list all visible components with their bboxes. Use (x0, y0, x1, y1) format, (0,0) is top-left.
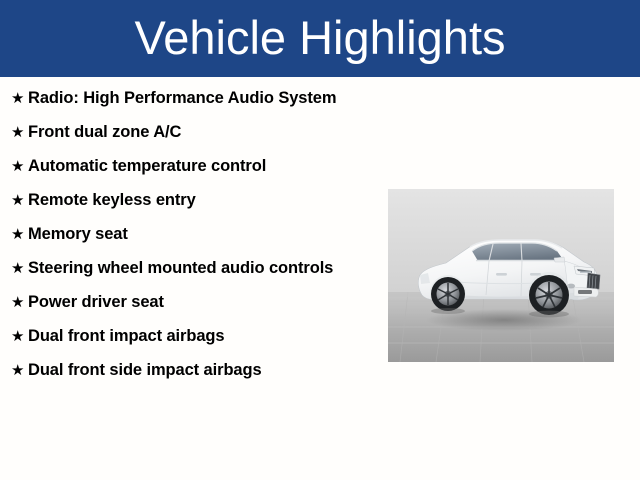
vehicle-photo (388, 189, 614, 362)
list-item-label: Memory seat (28, 224, 338, 245)
vehicle-features-list: ★ Radio: High Performance Audio System ★… (8, 88, 338, 394)
list-item-label: Dual front impact airbags (28, 326, 338, 347)
list-item: ★ Memory seat (8, 224, 338, 245)
slide-root: Vehicle Highlights ★ Radio: High Perform… (0, 0, 640, 480)
list-item-label: Radio: High Performance Audio System (28, 88, 338, 109)
header-bar: Vehicle Highlights (0, 0, 640, 77)
star-icon: ★ (8, 190, 28, 211)
star-icon: ★ (8, 156, 28, 177)
list-item: ★ Front dual zone A/C (8, 122, 338, 143)
list-item: ★ Remote keyless entry (8, 190, 338, 211)
star-icon: ★ (8, 292, 28, 313)
list-item-label: Steering wheel mounted audio controls (28, 258, 338, 279)
list-item-label: Dual front side impact airbags (28, 360, 338, 381)
star-icon: ★ (8, 224, 28, 245)
star-icon: ★ (8, 88, 28, 109)
list-item-label: Power driver seat (28, 292, 338, 313)
star-icon: ★ (8, 360, 28, 381)
page-title: Vehicle Highlights (135, 14, 506, 64)
list-item: ★ Radio: High Performance Audio System (8, 88, 338, 109)
list-item-label: Automatic temperature control (28, 156, 338, 177)
vehicle-photo-illustration (388, 189, 614, 362)
star-icon: ★ (8, 326, 28, 347)
list-item: ★ Dual front impact airbags (8, 326, 338, 347)
list-item-label: Front dual zone A/C (28, 122, 338, 143)
list-item: ★ Power driver seat (8, 292, 338, 313)
star-icon: ★ (8, 258, 28, 279)
list-item: ★ Dual front side impact airbags (8, 360, 338, 381)
list-item: ★ Steering wheel mounted audio controls (8, 258, 338, 279)
list-item-label: Remote keyless entry (28, 190, 338, 211)
list-item: ★ Automatic temperature control (8, 156, 338, 177)
star-icon: ★ (8, 122, 28, 143)
